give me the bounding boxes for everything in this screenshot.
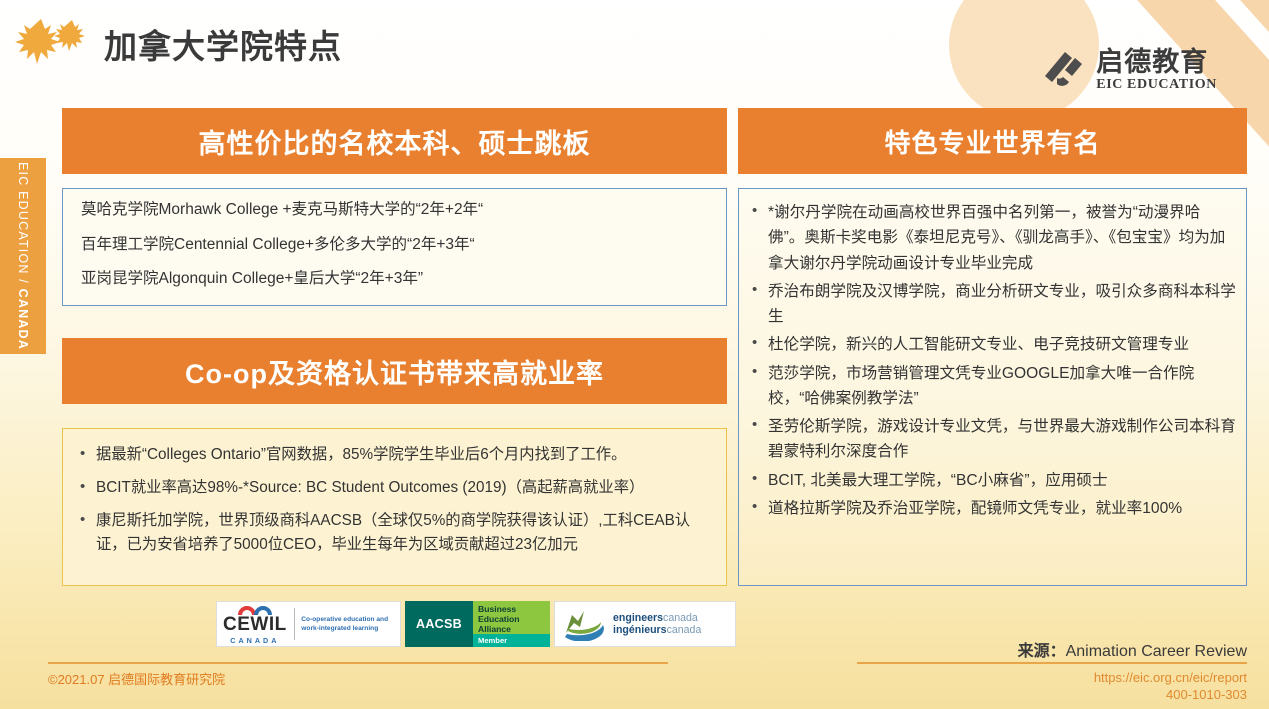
cewil-name: CEWIL bbox=[223, 615, 287, 634]
footer-phone: 400-1010-303 bbox=[1166, 687, 1247, 702]
list-item: 乔治布朗学院及汉博学院，商业分析研文专业，吸引众多商科本科学生 bbox=[749, 279, 1236, 330]
engineers-canada-logo-icon bbox=[562, 607, 606, 641]
source-label: 来源： bbox=[1018, 643, 1066, 660]
copyright-text: ©2021.07 启德国际教育研究院 bbox=[48, 669, 225, 688]
pathway-line: 百年理工学院Centennial College+多伦多大学的“2年+3年“ bbox=[81, 237, 708, 253]
aacsb-name: AACSB bbox=[405, 601, 473, 647]
famous-programs-box: *谢尔丹学院在动画高校世界百强中名列第一，被誉为“动漫界哈佛”。奥斯卡奖电影《泰… bbox=[738, 188, 1247, 586]
list-item: 杜伦学院，新兴的人工智能研文专业、电子竞技研文管理专业 bbox=[749, 332, 1236, 357]
logo-text-cn: 启德教育 bbox=[1096, 49, 1217, 76]
page-title: 加拿大学院特点 bbox=[104, 20, 342, 68]
footer-divider-right bbox=[857, 662, 1247, 664]
engineers-line2-light: canada bbox=[667, 624, 702, 636]
side-tab-canada: EIC EDUCATION / CANADA bbox=[0, 158, 46, 354]
list-item: *谢尔丹学院在动画高校世界百强中名列第一，被誉为“动漫界哈佛”。奥斯卡奖电影《泰… bbox=[749, 200, 1236, 276]
footer-url[interactable]: https://eic.org.cn/eic/report bbox=[1094, 670, 1247, 685]
slide-canvas: 加拿大学院特点 启德教育 EIC EDUCATION EIC EDUCATION… bbox=[0, 0, 1269, 709]
cewil-country: CANADA bbox=[230, 636, 279, 645]
source-value: Animation Career Review bbox=[1066, 643, 1247, 660]
cewil-arc-icon bbox=[238, 604, 272, 615]
engineers-line2-bold: ingénieurs bbox=[613, 624, 667, 636]
employment-stats-box: 据最新“Colleges Ontario”官网数据，85%学院学生毕业后6个月内… bbox=[62, 428, 727, 586]
list-item: 据最新“Colleges Ontario”官网数据，85%学院学生毕业后6个月内… bbox=[77, 443, 712, 468]
eic-logo-icon bbox=[1039, 46, 1087, 94]
aacsb-badge: AACSB Business Education Alliance Member bbox=[405, 601, 550, 647]
engineers-canada-badge: engineerscanada ingénieurscanada bbox=[554, 601, 736, 647]
banner-value-pathway: 高性价比的名校本科、硕士跳板 bbox=[62, 108, 727, 174]
list-item: BCIT, 北美最大理工学院，“BC小麻省”，应用硕士 bbox=[749, 468, 1236, 493]
footer-divider-left bbox=[48, 662, 668, 664]
pathway-line: 亚岗昆学院Algonquin College+皇后大学“2年+3年” bbox=[81, 271, 708, 287]
list-item: 道格拉斯学院及乔治亚学院，配镜师文凭专业，就业率100% bbox=[749, 496, 1236, 521]
source-note: 来源：Animation Career Review bbox=[1018, 637, 1247, 661]
pathway-programs-box: 莫哈克学院Morhawk College +麦克马斯特大学的“2年+2年“ 百年… bbox=[62, 188, 727, 306]
side-tab-prefix: EIC EDUCATION / bbox=[16, 162, 30, 289]
banner-famous-programs: 特色专业世界有名 bbox=[738, 108, 1247, 174]
aacsb-status: Member bbox=[473, 634, 550, 647]
cewil-tagline: Co-operative education and work-integrat… bbox=[301, 615, 394, 634]
aacsb-alliance: Business Education Alliance bbox=[473, 601, 550, 634]
brand-logo: 启德教育 EIC EDUCATION bbox=[1039, 46, 1217, 94]
logo-text-en: EIC EDUCATION bbox=[1096, 78, 1217, 92]
list-item: 康尼斯托加学院，世界顶级商科AACSB（全球仅5%的商学院获得该认证）,工科CE… bbox=[77, 509, 712, 559]
list-item: BCIT就业率高达98%-*Source: BC Student Outcome… bbox=[77, 476, 712, 501]
accreditation-badges: CEWIL CANADA Co-operative education and … bbox=[216, 601, 736, 647]
banner-coop-employment: Co-op及资格认证书带来高就业率 bbox=[62, 338, 727, 404]
maple-leaf-icon bbox=[14, 14, 92, 72]
engineers-line1-light: canada bbox=[663, 612, 698, 624]
list-item: 范莎学院，市场营销管理文凭专业GOOGLE加拿大唯一合作院校，“哈佛案例教学法” bbox=[749, 361, 1236, 412]
list-item: 圣劳伦斯学院，游戏设计专业文凭，与世界最大游戏制作公司本科育碧蒙特利尔深度合作 bbox=[749, 414, 1236, 465]
engineers-line1-bold: engineers bbox=[613, 612, 663, 624]
cewil-badge: CEWIL CANADA Co-operative education and … bbox=[216, 601, 401, 647]
side-tab-emphasis: CANADA bbox=[16, 289, 30, 350]
pathway-line: 莫哈克学院Morhawk College +麦克马斯特大学的“2年+2年“ bbox=[81, 202, 708, 218]
